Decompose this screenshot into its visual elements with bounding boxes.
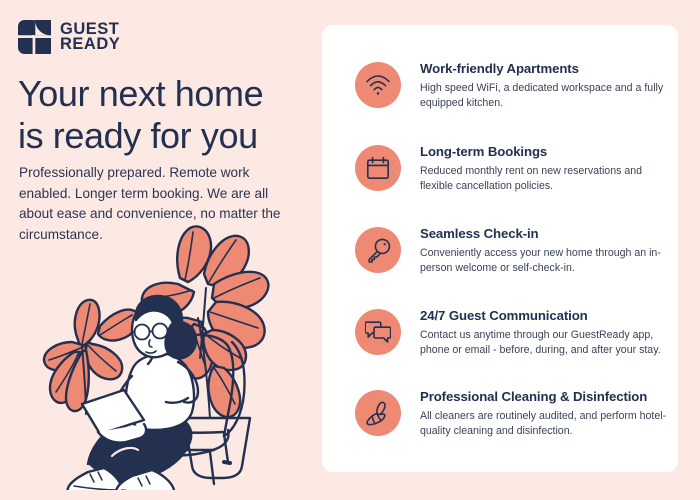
feature-title: Seamless Check-in	[420, 226, 667, 243]
feature-text: Work-friendly Apartments High speed WiFi…	[420, 60, 667, 111]
feature-title: Long-term Bookings	[420, 144, 667, 161]
feature-description: High speed WiFi, a dedicated workspace a…	[420, 81, 667, 111]
feature-item-cleaning-disinfection[interactable]: Professional Cleaning & Disinfection All…	[355, 388, 667, 439]
key-icon	[355, 227, 401, 273]
feature-text: Professional Cleaning & Disinfection All…	[420, 388, 667, 439]
chat-bubbles-icon	[355, 309, 401, 355]
left-column: GUEST READY Your next home is ready for …	[0, 0, 322, 500]
calendar-icon	[355, 145, 401, 191]
brand-logo[interactable]: GUEST READY	[18, 20, 120, 54]
feature-text: 24/7 Guest Communication Contact us anyt…	[420, 307, 667, 358]
feature-item-seamless-check-in[interactable]: Seamless Check-in Conveniently access yo…	[355, 225, 667, 276]
feature-item-work-friendly-apartments[interactable]: Work-friendly Apartments High speed WiFi…	[355, 60, 667, 111]
feature-item-long-term-bookings[interactable]: Long-term Bookings Reduced monthly rent …	[355, 143, 667, 194]
feature-title: 24/7 Guest Communication	[420, 308, 667, 325]
person-on-chair-with-laptop-and-plants-illustration	[28, 218, 313, 490]
brand-name: GUEST READY	[60, 22, 120, 53]
broom-icon	[355, 390, 401, 436]
feature-description: Reduced monthly rent on new reservations…	[420, 164, 667, 194]
feature-description: All cleaners are routinely audited, and …	[420, 409, 667, 439]
wifi-icon	[355, 62, 401, 108]
feature-text: Long-term Bookings Reduced monthly rent …	[420, 143, 667, 194]
guestready-logo-icon	[18, 20, 51, 54]
feature-description: Conveniently access your new home throug…	[420, 246, 667, 276]
feature-description: Contact us anytime through our GuestRead…	[420, 328, 667, 358]
feature-list: Work-friendly Apartments High speed WiFi…	[322, 25, 678, 472]
feature-title: Work-friendly Apartments	[420, 61, 667, 78]
promo-page: GUEST READY Your next home is ready for …	[0, 0, 700, 500]
feature-text: Seamless Check-in Conveniently access yo…	[420, 225, 667, 276]
feature-item-guest-communication[interactable]: 24/7 Guest Communication Contact us anyt…	[355, 307, 667, 358]
features-card: Work-friendly Apartments High speed WiFi…	[322, 25, 678, 472]
feature-title: Professional Cleaning & Disinfection	[420, 389, 667, 406]
page-title: Your next home is ready for you	[18, 73, 308, 158]
